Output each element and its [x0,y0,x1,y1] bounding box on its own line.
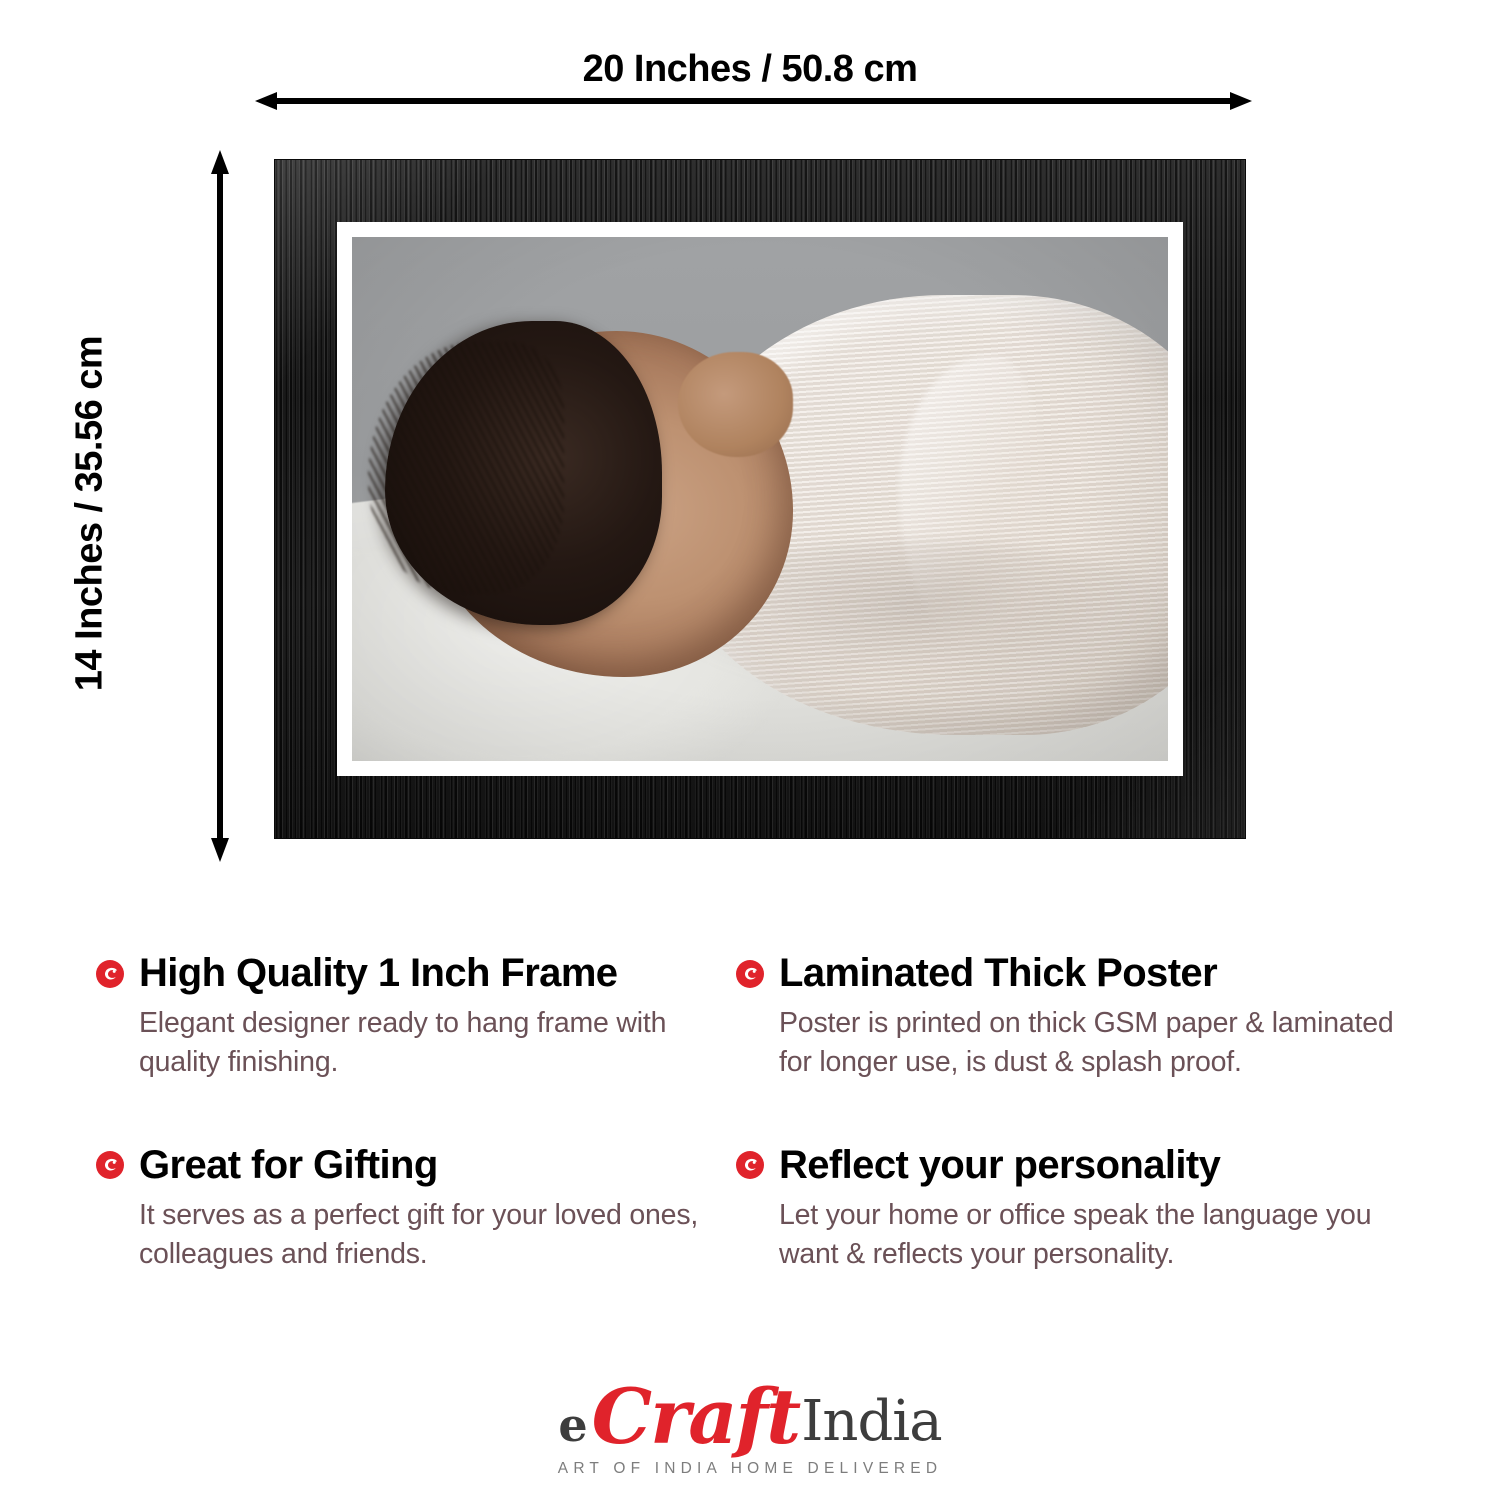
brand-name-india: India [801,1394,941,1450]
brand-lockup: e Craft India ART OF INDIA HOME DELIVERE… [558,1382,942,1476]
feature-heading-row: Laminated Thick Poster [735,952,1395,995]
brand-tagline: ART OF INDIA HOME DELIVERED [558,1461,942,1477]
feature-title: Reflect your personality [779,1144,1220,1187]
brand-logo: e Craft India ART OF INDIA HOME DELIVERE… [0,1382,1500,1478]
height-dimension-label: 14 Inches / 35.56 cm [69,254,112,774]
photo-vignette [352,237,1168,761]
ecraftindia-bullet-icon [735,959,765,989]
width-dimension-label: 20 Inches / 50.8 cm [0,48,1500,91]
product-frame [275,160,1245,838]
frame-mat [337,222,1183,776]
feature-item: Great for Gifting It serves as a perfect… [95,1144,715,1274]
ecraftindia-bullet-icon [735,1150,765,1180]
height-dimension-arrow [211,150,229,862]
width-dimension-arrow [255,92,1252,110]
feature-item: Reflect your personality Let your home o… [735,1144,1395,1274]
feature-item: High Quality 1 Inch Frame Elegant design… [95,952,715,1082]
feature-description: Elegant designer ready to hang frame wit… [139,1004,715,1082]
feature-heading-row: Great for Gifting [95,1144,715,1187]
poster-artwork [352,237,1168,761]
brand-wordmark: e Craft India [558,1382,942,1452]
ecraftindia-bullet-icon [95,1150,125,1180]
feature-description: Poster is printed on thick GSM paper & l… [779,1004,1395,1082]
feature-list: High Quality 1 Inch Frame Elegant design… [95,952,1415,1273]
brand-name-craft: Craft [592,1382,800,1452]
feature-item: Laminated Thick Poster Poster is printed… [735,952,1395,1082]
feature-description: Let your home or office speak the langua… [779,1196,1395,1274]
feature-title: High Quality 1 Inch Frame [139,952,617,995]
ecraftindia-bullet-icon [95,959,125,989]
feature-title: Great for Gifting [139,1144,438,1187]
brand-e-cart-icon: e [558,1402,587,1448]
feature-description: It serves as a perfect gift for your lov… [139,1196,715,1274]
feature-title: Laminated Thick Poster [779,952,1217,995]
feature-heading-row: Reflect your personality [735,1144,1395,1187]
feature-heading-row: High Quality 1 Inch Frame [95,952,715,995]
